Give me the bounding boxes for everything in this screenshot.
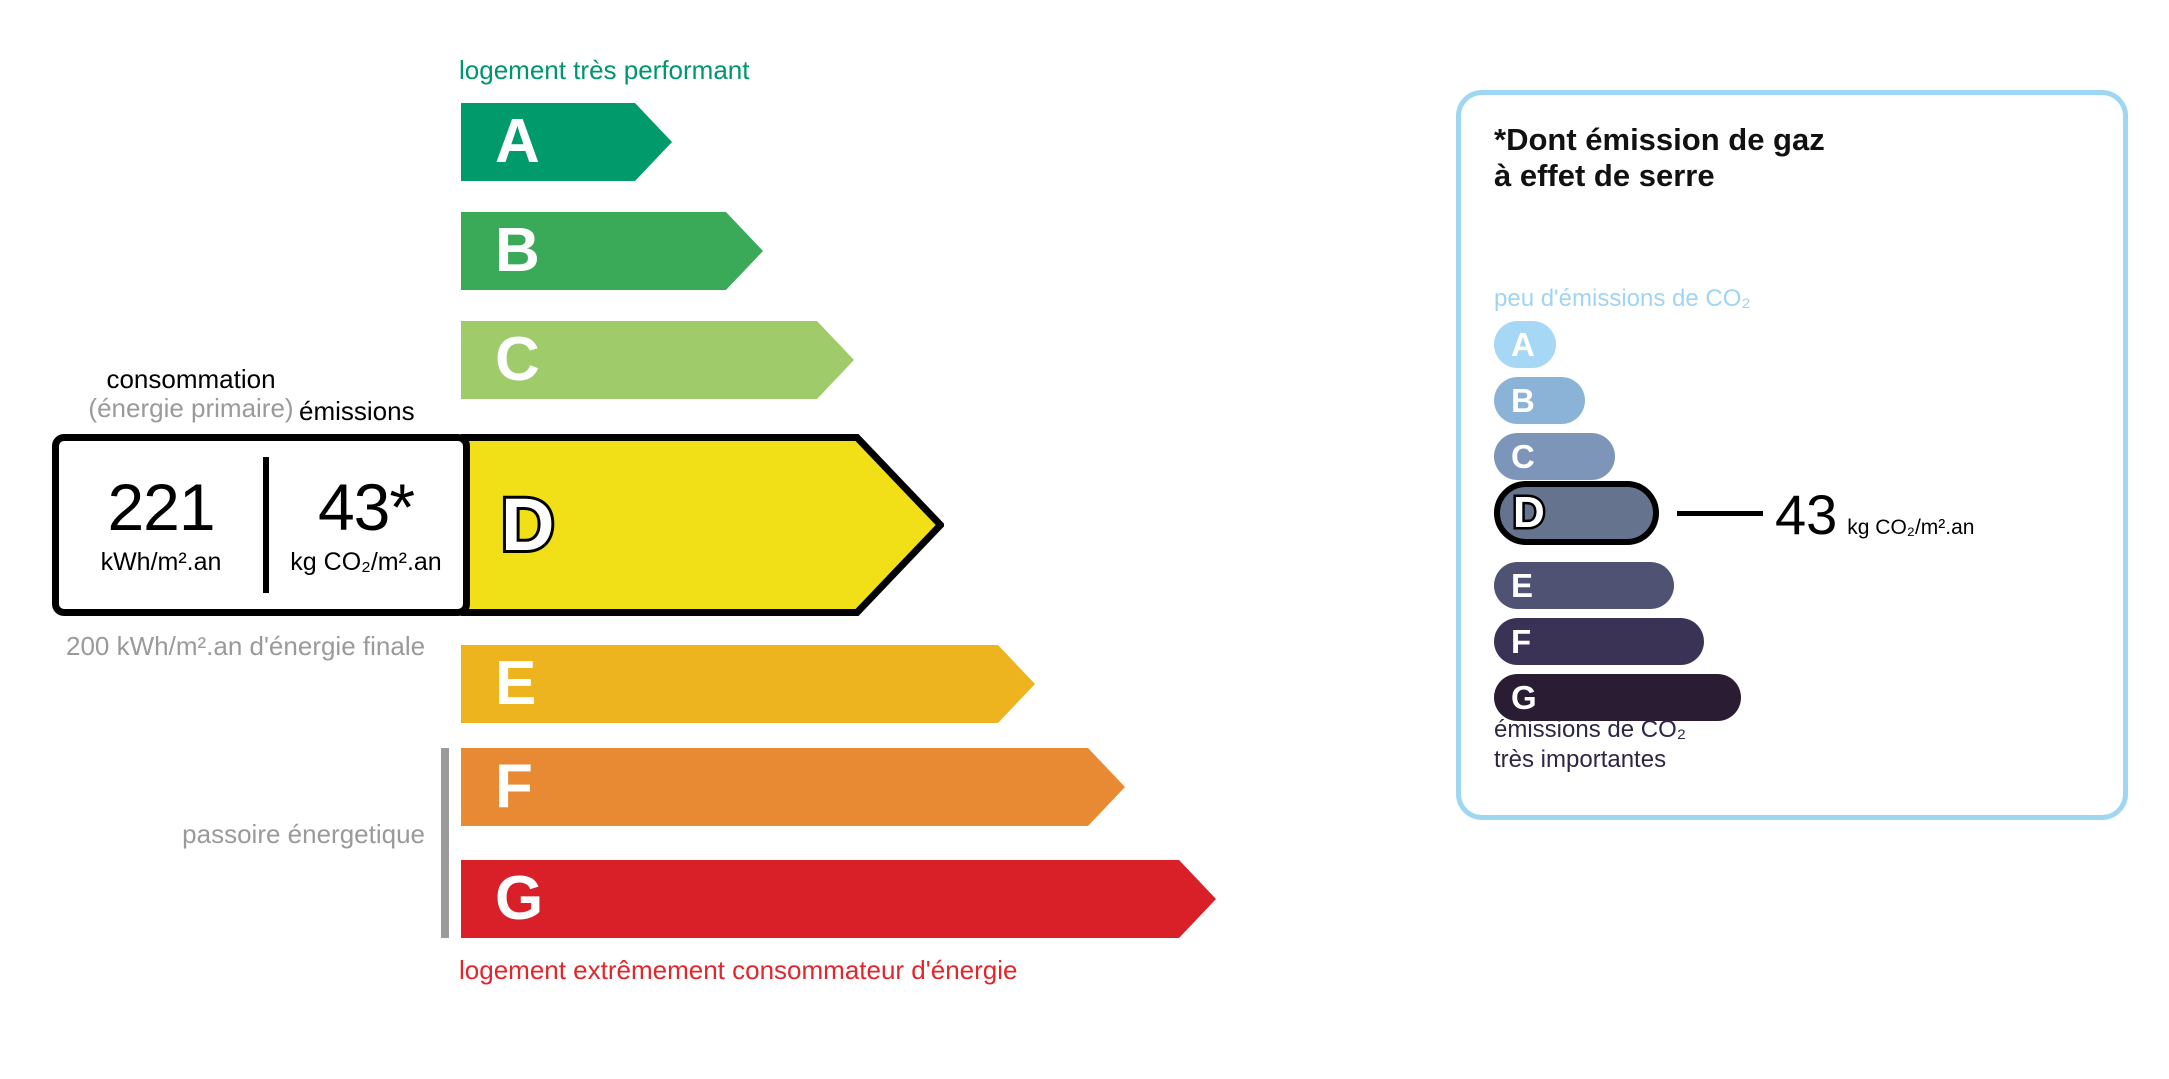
energy-bar-shape-g <box>461 860 1216 938</box>
energy-bar-letter-g: G <box>495 868 543 930</box>
co2-bar-e: E <box>1494 562 1674 609</box>
energy-bar-d: D <box>461 434 944 616</box>
emissions-label: émissions <box>299 396 415 427</box>
energy-bar-a: A <box>461 103 672 181</box>
energy-bar-shape-e <box>461 645 1035 723</box>
consumption-label: consommation (énergie primaire) <box>66 365 316 423</box>
co2-bar-c: C <box>1494 433 1615 480</box>
co2-bar-letter-b: B <box>1511 384 1535 417</box>
co2-bar-letter-d: D <box>1513 491 1545 535</box>
co2-bar-letter-a: A <box>1511 328 1535 361</box>
energy-bar-c: C <box>461 321 854 399</box>
co2-top-caption: peu d'émissions de CO₂ <box>1494 285 1751 313</box>
co2-bar-letter-f: F <box>1511 625 1531 658</box>
energy-bar-shape-a <box>461 103 672 181</box>
energy-bar-letter-d: D <box>501 488 554 562</box>
passoire-rule <box>441 748 449 938</box>
energy-bar-f: F <box>461 748 1125 826</box>
energy-bar-letter-b: B <box>495 220 540 282</box>
co2-bar-f: F <box>1494 618 1704 665</box>
consumption-label-sub: (énergie primaire) <box>66 394 316 423</box>
energy-bar-letter-a: A <box>495 111 540 173</box>
energy-bar-letter-e: E <box>495 653 536 715</box>
energy-bar-shape-f <box>461 748 1125 826</box>
co2-bar-letter-e: E <box>1511 569 1533 602</box>
energy-bottom-caption: logement extrêmement consommateur d'éner… <box>459 955 1017 986</box>
consumption-value: 221 <box>107 474 214 540</box>
consumption-label-main: consommation <box>66 365 316 394</box>
energy-scale-panel: logement très performant ABCDEFG logemen… <box>0 0 1330 1079</box>
energy-bar-e: E <box>461 645 1035 723</box>
energy-bar-g: G <box>461 860 1216 938</box>
consumption-unit: kWh/m².an <box>101 548 222 577</box>
dpe-diagram: logement très performant ABCDEFG logemen… <box>0 0 2169 1079</box>
co2-panel: *Dont émission de gaz à effet de serre p… <box>1456 90 2128 820</box>
passoire-note: passoire énergetique <box>150 818 425 851</box>
co2-bar-d: D <box>1494 481 1659 545</box>
energy-bar-letter-c: C <box>495 329 540 391</box>
co2-value-number: 43 <box>1775 487 1837 543</box>
co2-bar-g: G <box>1494 674 1741 721</box>
energy-top-caption: logement très performant <box>459 55 749 86</box>
value-box: 221 kWh/m².an 43* kg CO₂/m².an <box>52 434 470 616</box>
emissions-unit: kg CO₂/m².an <box>290 548 441 577</box>
co2-bar-a: A <box>1494 321 1556 368</box>
co2-value-unit: kg CO₂/m².an <box>1847 516 1974 540</box>
co2-panel-title: *Dont émission de gaz à effet de serre <box>1494 122 1825 193</box>
co2-bar-letter-g: G <box>1511 681 1537 714</box>
co2-leader-line <box>1677 511 1763 516</box>
final-energy-note: 200 kWh/m².an d'énergie finale <box>66 630 425 663</box>
co2-bar-letter-c: C <box>1511 440 1535 473</box>
energy-bar-b: B <box>461 212 763 290</box>
co2-bottom-caption: émissions de CO₂ très importantes <box>1494 715 1686 775</box>
co2-bar-b: B <box>1494 377 1585 424</box>
emissions-value-cell: 43* kg CO₂/m².an <box>269 441 463 609</box>
co2-value-callout: 43kg CO₂/m².an <box>1775 487 1974 543</box>
energy-bar-letter-f: F <box>495 756 533 818</box>
emissions-value: 43* <box>318 474 414 540</box>
consumption-value-cell: 221 kWh/m².an <box>59 441 263 609</box>
